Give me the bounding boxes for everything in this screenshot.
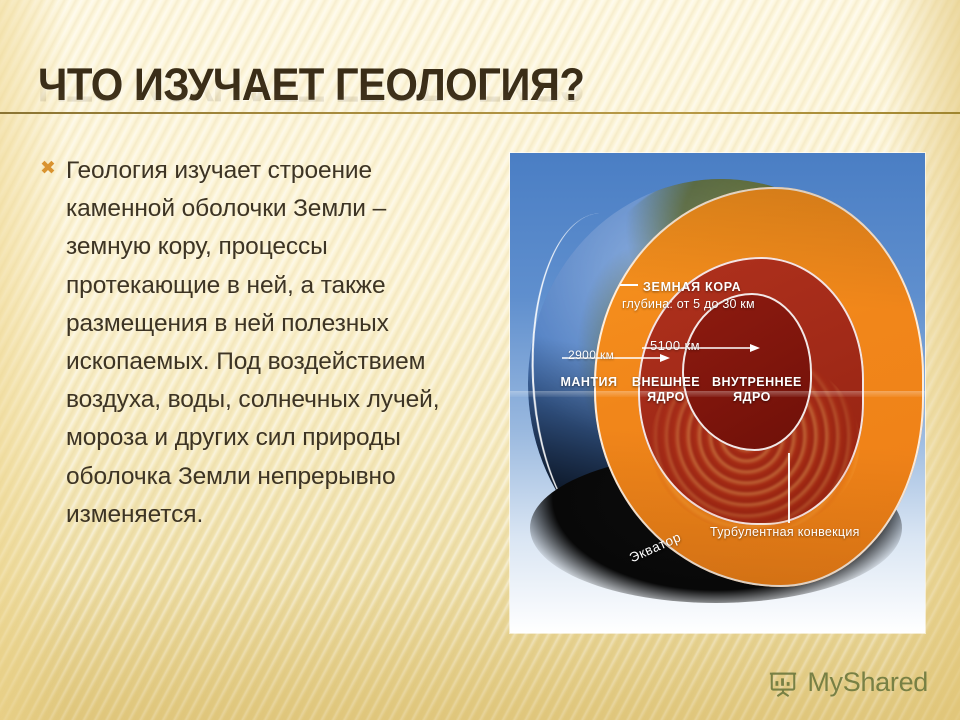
earth-structure-figure: Экватор ЗЕМНАЯ КОРА глубина: от 5 до 30 … xyxy=(510,153,925,633)
mantle-label: МАНТИЯ xyxy=(558,375,620,390)
crust-leader-line-icon xyxy=(620,284,638,286)
convection-leader-line-icon xyxy=(788,453,790,523)
outer-core-distance-label: 5100 км xyxy=(650,338,700,353)
crust-depth-label: глубина: от 5 до 30 км xyxy=(622,297,755,311)
crust-label: ЗЕМНАЯ КОРА xyxy=(643,280,741,294)
title-area: ЧТО ИЗУЧАЕТ ГЕОЛОГИЯ? ЧТО ИЗУЧАЕТ ГЕОЛОГ… xyxy=(38,62,626,150)
outer-core-label: ВНЕШНЕЕ ЯДРО xyxy=(629,375,703,404)
myshared-watermark: MyShared xyxy=(768,667,928,698)
mantle-distance-label: 2900 км xyxy=(568,348,614,362)
watermark-text: MyShared xyxy=(807,667,928,698)
layer-name-row: МАНТИЯ ВНЕШНЕЕ ЯДРО ВНУТРЕННЕЕ ЯДРО xyxy=(558,375,792,404)
body-paragraph: Геология изучает строение каменной оболо… xyxy=(66,152,470,534)
page-title-reflection: ЧТО ИЗУЧАЕТ ГЕОЛОГИЯ? xyxy=(38,66,584,108)
crust-callout: ЗЕМНАЯ КОРА глубина: от 5 до 30 км xyxy=(620,278,755,311)
convection-label: Турбулентная конвекция xyxy=(710,525,860,539)
inner-core-label: ВНУТРЕННЕЕ ЯДРО xyxy=(712,375,792,404)
body-bullet-item: ✖ Геология изучает строение каменной обо… xyxy=(40,152,470,534)
presentation-board-icon xyxy=(768,668,798,698)
bullet-marker-icon: ✖ xyxy=(40,152,66,534)
slide: ЧТО ИЗУЧАЕТ ГЕОЛОГИЯ? ЧТО ИЗУЧАЕТ ГЕОЛОГ… xyxy=(0,0,960,720)
